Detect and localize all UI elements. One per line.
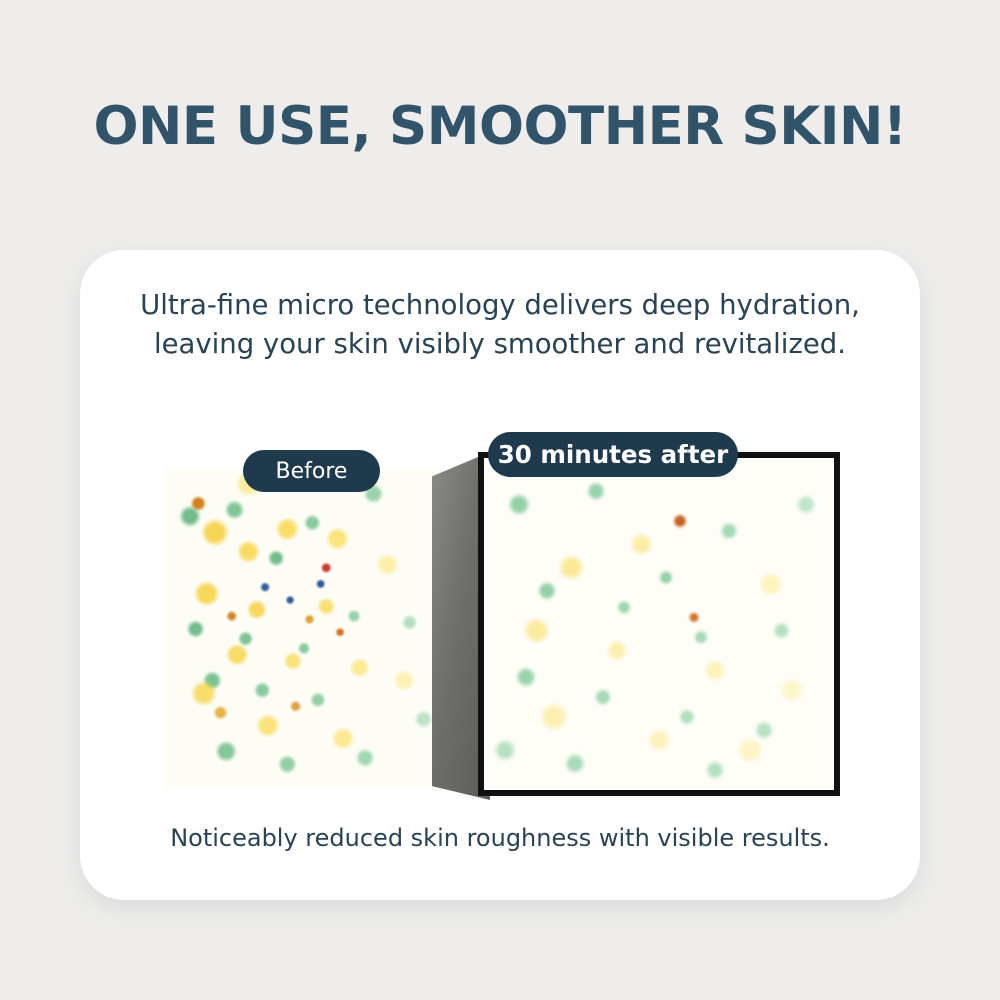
- before-image-panel: [165, 468, 443, 790]
- page-title: ONE USE, SMOOTHER SKIN!: [0, 96, 1000, 157]
- result-caption: Noticeably reduced skin roughness with v…: [80, 824, 920, 852]
- lead-paragraph: Ultra-fine micro technology delivers dee…: [120, 286, 880, 364]
- promo-page: ONE USE, SMOOTHER SKIN! Ultra-fine micro…: [0, 0, 1000, 1000]
- lead-line-1: Ultra-fine micro technology delivers dee…: [140, 289, 860, 321]
- lead-line-2: leaving your skin visibly smoother and r…: [120, 325, 880, 364]
- before-after-comparison: Before 30 minutes after: [80, 420, 920, 790]
- after-badge-label: 30 minutes after: [498, 440, 728, 469]
- after-skin-texture: [484, 458, 834, 790]
- after-badge: 30 minutes after: [488, 432, 738, 477]
- before-badge-label: Before: [276, 459, 348, 484]
- before-skin-texture: [165, 468, 443, 790]
- before-badge: Before: [243, 450, 380, 492]
- after-image-panel: [478, 452, 840, 796]
- content-card: Ultra-fine micro technology delivers dee…: [80, 250, 920, 900]
